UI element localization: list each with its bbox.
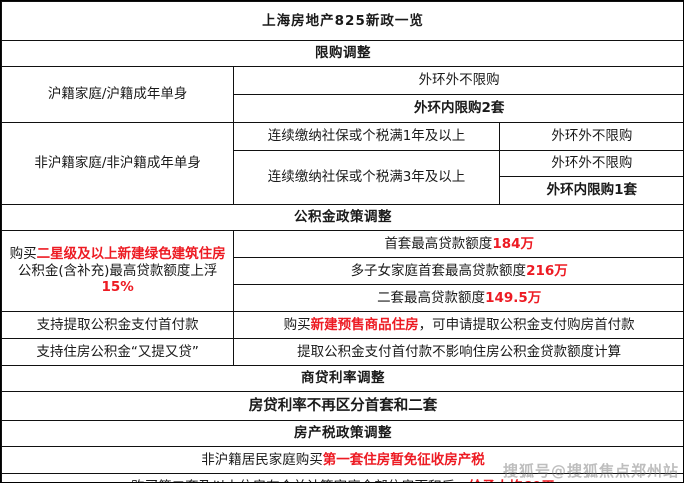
title-row: 上海房地产825新政一览 xyxy=(2,2,684,41)
label-part-red-1: 二星级及以上新建绿色建筑住房 xyxy=(37,246,226,262)
withdraw-text-red: 新建预售商品住房 xyxy=(311,317,419,333)
section-header-commercial-rate: 商贷利率调整 xyxy=(2,366,684,392)
cell-local-inner-ring: 外环内限购2套 xyxy=(234,95,684,123)
cell-condition-3year: 连续缴纳社保或个税满3年及以上 xyxy=(234,151,499,205)
policy-table: 上海房地产825新政一览 限购调整 沪籍家庭/沪籍成年单身 外环外不限购 外环内… xyxy=(1,1,684,483)
cell-property-tax-area-allowance: 购买第二套及以上住房在合并计算家庭全部住房面积后，给予人均60平 xyxy=(2,474,684,483)
row-label-nonlocal-household: 非沪籍家庭/非沪籍成年单身 xyxy=(2,123,234,205)
cell-first-home-loan-cap: 首套最高贷款额度184万 xyxy=(234,231,684,258)
section-title-housing-fund: 公积金政策调整 xyxy=(2,205,684,231)
table-row: 购买第二套及以上住房在合并计算家庭全部住房面积后，给予人均60平 xyxy=(2,474,684,483)
row-label-withdraw-and-loan: 支持住房公积金“又提又贷” xyxy=(2,339,234,366)
policy-table-infographic: 上海房地产825新政一览 限购调整 沪籍家庭/沪籍成年单身 外环外不限购 外环内… xyxy=(0,0,684,483)
loan-cap-2-text: 多子女家庭首套最高贷款额度 xyxy=(351,263,527,279)
loan-cap-2-amount: 216万 xyxy=(526,263,568,279)
cell-property-tax-exemption: 非沪籍居民家庭购买第一套住房暂免征收房产税 xyxy=(2,447,684,474)
row-label-green-building-fund: 购买二星级及以上新建绿色建筑住房公积金(含补充)最高贷款额度上浮15% xyxy=(2,231,234,312)
tax-row1-pre: 非沪籍居民家庭购买 xyxy=(201,452,323,468)
cell-condition-1year-result: 外环外不限购 xyxy=(499,123,684,151)
page-title: 上海房地产825新政一览 xyxy=(2,2,684,41)
section-title-purchase-limit: 限购调整 xyxy=(2,41,684,67)
tax-row2-red: 给予人均60平 xyxy=(469,479,555,483)
section-header-housing-fund: 公积金政策调整 xyxy=(2,205,684,231)
withdraw-text-post: ，可申请提取公积金支付购房首付款 xyxy=(419,317,635,333)
table-row: 支持提取公积金支付首付款 购买新建预售商品住房，可申请提取公积金支付购房首付款 xyxy=(2,312,684,339)
section-title-commercial-rate: 商贷利率调整 xyxy=(2,366,684,392)
loan-cap-1-text: 首套最高贷款额度 xyxy=(384,236,492,252)
cell-withdraw-downpayment-value: 购买新建预售商品住房，可申请提取公积金支付购房首付款 xyxy=(234,312,684,339)
table-row: 沪籍家庭/沪籍成年单身 外环外不限购 xyxy=(2,67,684,95)
section-header-purchase-limit: 限购调整 xyxy=(2,41,684,67)
section-header-property-tax: 房产税政策调整 xyxy=(2,421,684,447)
cell-local-outer-ring: 外环外不限购 xyxy=(234,67,684,95)
table-row: 房贷利率不再区分首套和二套 xyxy=(2,392,684,421)
loan-cap-3-text: 二套最高贷款额度 xyxy=(377,290,485,306)
label-part-plain-2: 公积金(含补充)最高贷款额度上浮 xyxy=(18,263,218,279)
cell-commercial-rate-value: 房贷利率不再区分首套和二套 xyxy=(2,392,684,421)
tax-row1-red: 第一套住房暂免征收房产税 xyxy=(323,452,485,468)
table-row: 非沪籍家庭/非沪籍成年单身 连续缴纳社保或个税满1年及以上 外环外不限购 xyxy=(2,123,684,151)
loan-cap-3-amount: 149.5万 xyxy=(485,290,541,306)
table-row: 购买二星级及以上新建绿色建筑住房公积金(含补充)最高贷款额度上浮15% 首套最高… xyxy=(2,231,684,258)
label-part-plain-1: 购买 xyxy=(10,246,37,262)
label-part-red-2: 15% xyxy=(102,279,134,295)
cell-condition-1year: 连续缴纳社保或个税满1年及以上 xyxy=(234,123,499,151)
loan-cap-1-amount: 184万 xyxy=(492,236,534,252)
cell-condition-3year-result-outer: 外环外不限购 xyxy=(499,151,684,177)
tax-row2-pre: 购买第二套及以上住房在合并计算家庭全部住房面积后， xyxy=(131,479,469,483)
section-title-property-tax: 房产税政策调整 xyxy=(2,421,684,447)
withdraw-text-pre: 购买 xyxy=(284,317,311,333)
row-label-withdraw-downpayment: 支持提取公积金支付首付款 xyxy=(2,312,234,339)
cell-second-home-loan-cap: 二套最高贷款额度149.5万 xyxy=(234,285,684,312)
row-label-local-household: 沪籍家庭/沪籍成年单身 xyxy=(2,67,234,123)
table-row: 支持住房公积金“又提又贷” 提取公积金支付首付款不影响住房公积金贷款额度计算 xyxy=(2,339,684,366)
cell-withdraw-and-loan-value: 提取公积金支付首付款不影响住房公积金贷款额度计算 xyxy=(234,339,684,366)
cell-multichild-first-home-loan-cap: 多子女家庭首套最高贷款额度216万 xyxy=(234,258,684,285)
cell-condition-3year-result-inner: 外环内限购1套 xyxy=(499,177,684,205)
table-row: 非沪籍居民家庭购买第一套住房暂免征收房产税 xyxy=(2,447,684,474)
